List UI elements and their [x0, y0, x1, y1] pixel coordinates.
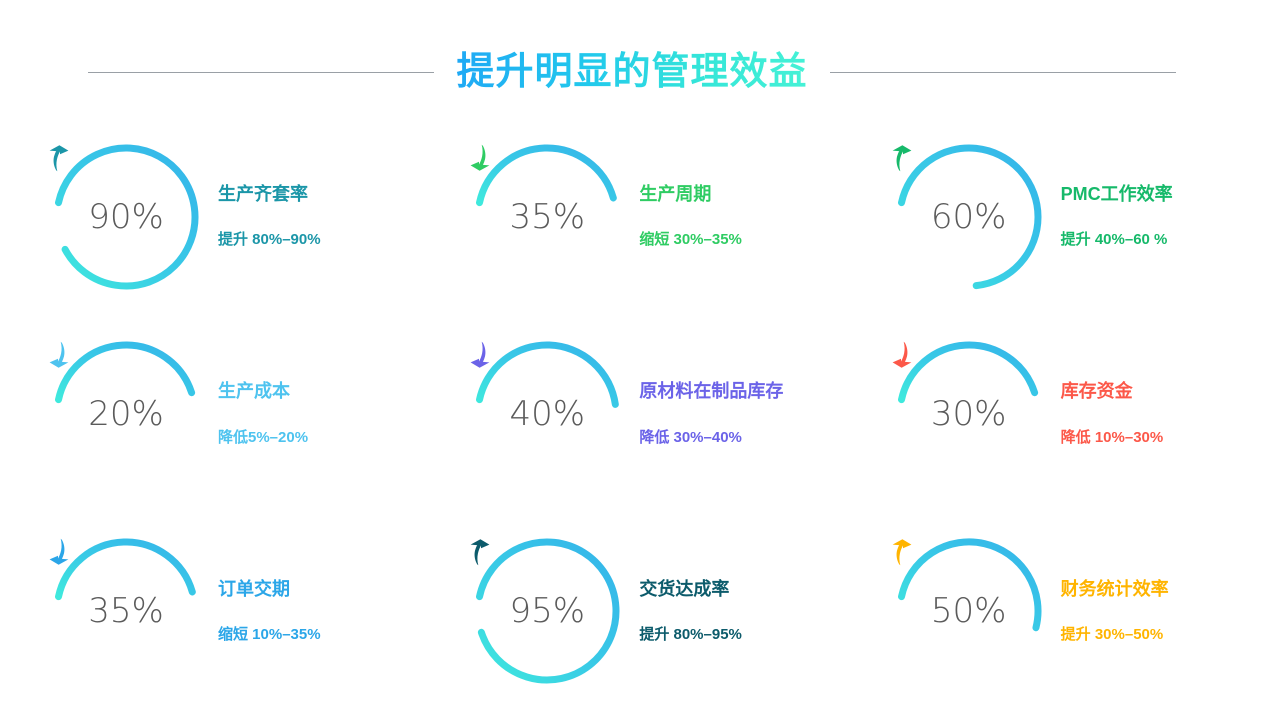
- gauge-center: 95%: [467, 531, 627, 691]
- gauge-center: 30%: [889, 334, 1049, 494]
- up-arrow-icon: [46, 143, 72, 173]
- metric-title: 生产周期: [639, 184, 711, 206]
- gauge-value: 40%: [510, 397, 586, 431]
- metric-card[interactable]: 95% 交货达成率 提升 80%–95%: [421, 513, 842, 710]
- gauge-ring: 30%: [889, 334, 1049, 494]
- metric-labels: PMC工作效率 提升 40%–60 %: [1061, 184, 1261, 250]
- metric-labels: 生产成本 降低5%–20%: [218, 381, 418, 447]
- gauge-value: 30%: [931, 397, 1007, 431]
- metric-description: 提升 40%–60 %: [1061, 231, 1168, 249]
- metric-description: 降低5%–20%: [218, 429, 308, 447]
- metric-description: 缩短 10%–35%: [218, 626, 321, 644]
- metric-card[interactable]: 60% PMC工作效率 提升 40%–60 %: [843, 118, 1264, 315]
- metric-card[interactable]: 40% 原材料在制品库存 降低 30%–40%: [421, 315, 842, 512]
- metric-description: 提升 30%–50%: [1061, 626, 1164, 644]
- metric-description: 提升 80%–95%: [639, 626, 742, 644]
- up-arrow-icon: [467, 537, 493, 567]
- gauge-ring: 20%: [46, 334, 206, 494]
- metric-title: 原材料在制品库存: [639, 381, 783, 403]
- gauge-value: 20%: [88, 397, 164, 431]
- metric-card[interactable]: 35% 生产周期 缩短 30%–35%: [421, 118, 842, 315]
- gauge-ring: 60%: [889, 137, 1049, 297]
- up-arrow-icon: [889, 143, 915, 173]
- down-arrow-icon: [46, 340, 72, 370]
- gauge-ring: 50%: [889, 531, 1049, 691]
- gauge-value: 90%: [88, 200, 164, 234]
- metric-title: 生产成本: [218, 381, 290, 403]
- gauge-value: 60%: [931, 200, 1007, 234]
- metric-description: 降低 30%–40%: [639, 429, 742, 447]
- gauge-ring: 90%: [46, 137, 206, 297]
- gauge-center: 35%: [46, 531, 206, 691]
- metric-title: 订单交期: [218, 579, 290, 601]
- metric-title: 交货达成率: [639, 579, 729, 601]
- gauge-value: 35%: [88, 594, 164, 628]
- gauge-value: 35%: [510, 200, 586, 234]
- metric-labels: 财务统计效率 提升 30%–50%: [1061, 579, 1261, 645]
- gauge-center: 35%: [467, 137, 627, 297]
- gauge-ring: 35%: [467, 137, 627, 297]
- page-header: 提升明显的管理效益: [0, 44, 1264, 100]
- down-arrow-icon: [467, 143, 493, 173]
- metric-labels: 生产周期 缩短 30%–35%: [639, 184, 839, 250]
- metric-description: 缩短 30%–35%: [639, 231, 742, 249]
- metric-title: 生产齐套率: [218, 184, 308, 206]
- metric-labels: 原材料在制品库存 降低 30%–40%: [639, 381, 839, 447]
- metric-title: 库存资金: [1061, 381, 1133, 403]
- metric-title: 财务统计效率: [1061, 579, 1169, 601]
- metric-labels: 交货达成率 提升 80%–95%: [639, 579, 839, 645]
- header-rule-left: [88, 72, 434, 73]
- metric-card[interactable]: 20% 生产成本 降低5%–20%: [0, 315, 421, 512]
- metric-card[interactable]: 35% 订单交期 缩短 10%–35%: [0, 513, 421, 710]
- up-arrow-icon: [889, 537, 915, 567]
- gauge-value: 50%: [931, 594, 1007, 628]
- gauge-center: 60%: [889, 137, 1049, 297]
- metric-labels: 订单交期 缩短 10%–35%: [218, 579, 418, 645]
- metric-title: PMC工作效率: [1061, 184, 1173, 206]
- down-arrow-icon: [889, 340, 915, 370]
- metric-description: 降低 10%–30%: [1061, 429, 1164, 447]
- gauge-ring: 35%: [46, 531, 206, 691]
- gauge-center: 20%: [46, 334, 206, 494]
- metric-card[interactable]: 50% 财务统计效率 提升 30%–50%: [843, 513, 1264, 710]
- metric-card[interactable]: 30% 库存资金 降低 10%–30%: [843, 315, 1264, 512]
- gauge-value: 95%: [510, 594, 586, 628]
- gauge-ring: 95%: [467, 531, 627, 691]
- gauge-center: 90%: [46, 137, 206, 297]
- metrics-grid: 90% 生产齐套率 提升 80%–90% 35%: [0, 118, 1264, 710]
- page-title: 提升明显的管理效益: [456, 44, 807, 100]
- metric-labels: 库存资金 降低 10%–30%: [1061, 381, 1261, 447]
- down-arrow-icon: [46, 537, 72, 567]
- down-arrow-icon: [467, 340, 493, 370]
- gauge-center: 40%: [467, 334, 627, 494]
- metric-card[interactable]: 90% 生产齐套率 提升 80%–90%: [0, 118, 421, 315]
- metric-description: 提升 80%–90%: [218, 231, 321, 249]
- gauge-center: 50%: [889, 531, 1049, 691]
- gauge-ring: 40%: [467, 334, 627, 494]
- metric-labels: 生产齐套率 提升 80%–90%: [218, 184, 418, 250]
- header-rule-right: [830, 72, 1176, 73]
